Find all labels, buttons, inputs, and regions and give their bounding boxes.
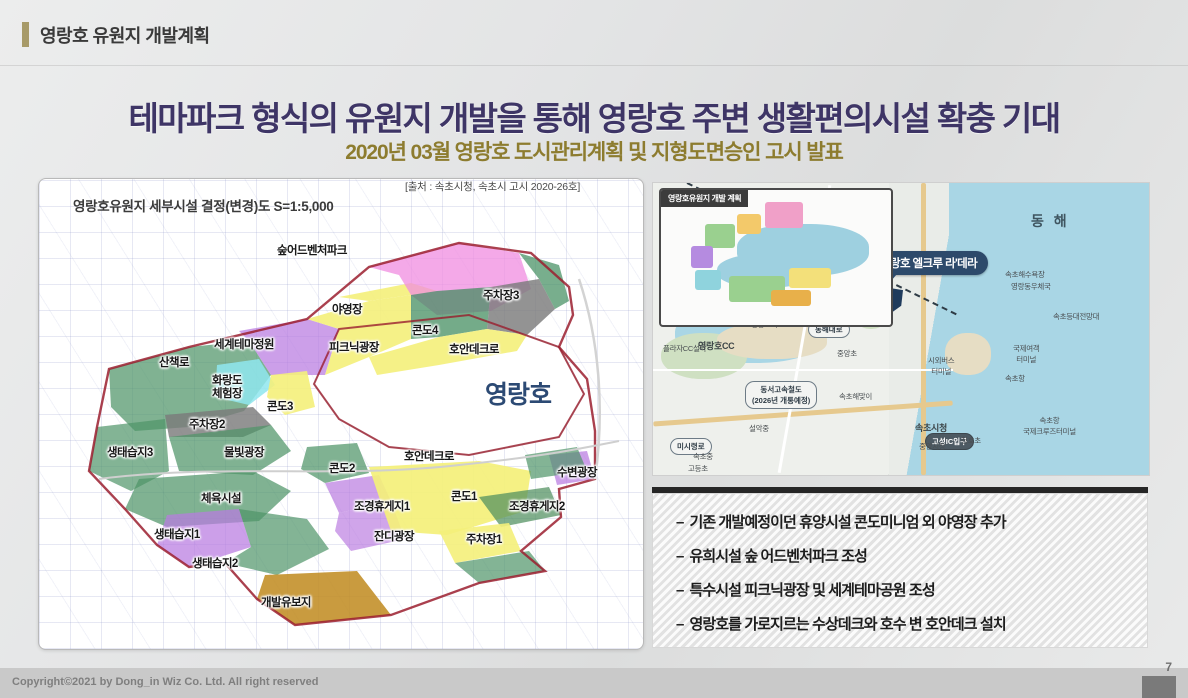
plan-map-label: 수변광장 xyxy=(557,467,597,480)
plan-map-label: 조경휴게지1 xyxy=(354,501,410,514)
plan-map-label: 호안데크로 xyxy=(404,451,454,464)
location-map-label: 청호초 xyxy=(961,435,981,446)
bullet-item: –기존 개발예정이던 휴양시설 콘도미니엄 외 야영장 추가 xyxy=(676,511,1126,532)
inset-patch-reserve xyxy=(771,290,811,306)
road-white-2 xyxy=(653,369,953,371)
plan-map-label: 화랑도체험장 xyxy=(212,375,242,401)
bullet-dash-icon: – xyxy=(676,616,683,633)
plan-map-label: 물빛광장 xyxy=(224,447,264,460)
header-title: 영랑호 유원지 개발계획 xyxy=(40,22,210,48)
plan-map-label: 피크닉광장 xyxy=(329,342,379,355)
source-note: [출처 : 속초시청, 속초시 고시 2020-26호] xyxy=(405,179,580,194)
location-map-label: 속초시청 xyxy=(915,421,947,434)
slide-header: 영랑호 유원지 개발계획 xyxy=(0,0,1188,66)
plan-map-label: 잔디광장 xyxy=(374,531,414,544)
plan-map-label: 생태습지2 xyxy=(192,558,238,571)
plan-map-label: 주차장3 xyxy=(483,290,519,303)
plan-map-label: 콘도2 xyxy=(329,463,355,476)
location-map-label: 국제여객터미널 xyxy=(1013,343,1039,365)
bullet-item: –영랑호를 가로지르는 수상데크와 호수 변 호안데크 설치 xyxy=(676,613,1126,634)
inset-patch-camp xyxy=(737,214,761,234)
inset-patch-adventure xyxy=(765,202,803,228)
location-map-label: 속초등대전망대 xyxy=(1053,311,1099,322)
plan-inset-thumbnail: 영랑호유원지 개발 계획 xyxy=(659,188,893,327)
location-map-label: 속초항국제크루즈터미널 xyxy=(1023,415,1076,437)
inset-patch-condo xyxy=(789,268,831,288)
location-map-label: 시외버스터미널 xyxy=(928,355,954,377)
plan-map-label: 생태습지3 xyxy=(107,447,153,460)
inset-patch-west xyxy=(691,246,713,268)
plan-map-label: 콘도4 xyxy=(412,325,438,338)
plan-map-label: 주차장1 xyxy=(466,534,502,547)
plan-map-label: 주차장2 xyxy=(189,419,225,432)
location-map-label: 중앙시장 xyxy=(919,441,945,452)
bullet-list: –기존 개발예정이던 휴양시설 콘도미니엄 외 야영장 추가–유희시설 숲 어드… xyxy=(676,511,1126,634)
location-map-label: 영랑동우체국 xyxy=(1011,281,1051,292)
header-divider xyxy=(0,65,1188,66)
slide-footer: Copyright©2021 by Dong_in Wiz Co. Ltd. A… xyxy=(0,668,1188,698)
copyright-text: Copyright©2021 by Dong_in Wiz Co. Ltd. A… xyxy=(12,676,318,688)
inset-patch-wet xyxy=(695,270,721,290)
location-map-label: 속초해맞이 xyxy=(839,391,872,402)
lake-label: 영랑호 xyxy=(485,375,551,411)
location-map-label: 속초고 xyxy=(885,473,905,476)
plan-map-label: 체육시설 xyxy=(201,493,241,506)
page-title: 테마파크 형식의 유원지 개발을 통해 영랑호 주변 생활편의시설 확충 기대 xyxy=(0,92,1188,140)
location-map-label: 플라자CC설악 xyxy=(663,343,706,354)
bullet-item: –특수시설 피크닉광장 및 세계테마공원 조성 xyxy=(676,579,1126,600)
bullet-dash-icon: – xyxy=(676,582,683,599)
east-sea-label: 동 해 xyxy=(1031,211,1070,231)
bullet-text: 유희시설 숲 어드벤처파크 조성 xyxy=(689,548,867,565)
plan-map-label: 조경휴게지2 xyxy=(509,501,565,514)
location-map-pill: 동서고속철도(2026년 개통예정) xyxy=(745,381,817,409)
plan-map-label: 세계테마정원 xyxy=(214,339,274,352)
plan-map-label: 콘도1 xyxy=(451,491,477,504)
page-number-block xyxy=(1142,676,1176,698)
inset-patch-garden xyxy=(705,224,735,248)
bullet-text: 특수시설 피크닉광장 및 세계테마공원 조성 xyxy=(689,582,934,599)
location-map-label: 속초중 xyxy=(693,451,713,462)
header-accent-bar xyxy=(22,22,29,47)
summary-bullets: –기존 개발예정이던 휴양시설 콘도미니엄 외 야영장 추가–유희시설 숲 어드… xyxy=(652,487,1148,648)
plan-map-label: 콘도3 xyxy=(267,401,293,414)
plan-map-label: 야영장 xyxy=(332,304,362,317)
location-map-label: 속초항 xyxy=(1005,373,1025,384)
page-number: 7 xyxy=(1165,660,1172,674)
bullet-text: 영랑호를 가로지르는 수상데크와 호수 변 호안데크 설치 xyxy=(689,616,1005,633)
inset-title: 영랑호유원지 개발 계획 xyxy=(661,190,748,207)
plan-map-panel: 영랑호유원지 세부시설 결정(변경)도 S=1:5,000 영랑호 숲어드벤처파… xyxy=(38,178,644,650)
plan-map-label: 숲어드벤처파크 xyxy=(277,245,347,258)
plan-map-label: 호안데크로 xyxy=(449,344,499,357)
page-subtitle: 2020년 03월 영랑호 도시관리계획 및 지형도면승인 고시 발표 xyxy=(0,136,1188,166)
bullet-dash-icon: – xyxy=(676,514,683,531)
plan-map-label: 산책로 xyxy=(159,357,189,370)
location-map-label: 고등초 xyxy=(688,463,708,474)
plan-map-label: 생태습지1 xyxy=(154,529,200,542)
location-map-label: 중앙초 xyxy=(837,348,857,359)
location-map-label: 설악중 xyxy=(749,423,769,434)
bullet-dash-icon: – xyxy=(676,548,683,565)
bullet-item: –유희시설 숲 어드벤처파크 조성 xyxy=(676,545,1126,566)
plan-map-title: 영랑호유원지 세부시설 결정(변경)도 S=1:5,000 xyxy=(73,195,334,215)
location-map: 동 해 영랑호 엘크루 라'데라 동해대로미시령로동서고속철도(2026년 개통… xyxy=(652,182,1150,476)
location-map-label: 속초해수욕장 xyxy=(1005,269,1045,280)
plan-map-label: 개발유보지 xyxy=(261,597,311,610)
bullet-text: 기존 개발예정이던 휴양시설 콘도미니엄 외 야영장 추가 xyxy=(689,514,1005,531)
